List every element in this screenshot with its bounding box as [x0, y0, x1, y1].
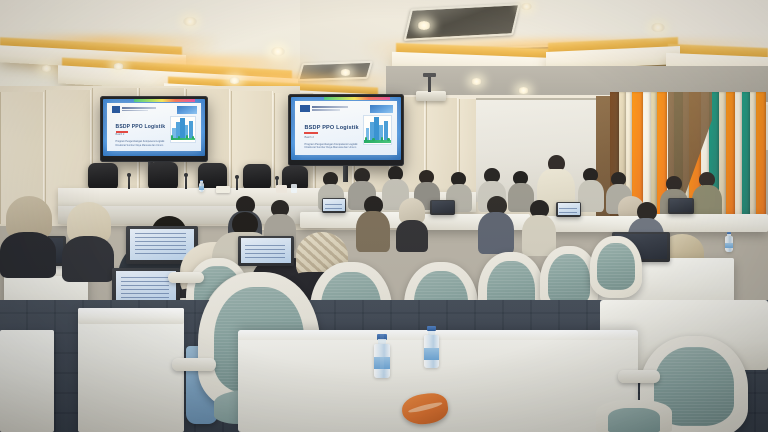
slide-color-bar [134, 99, 195, 102]
torso [478, 212, 514, 254]
chair-armrest [168, 272, 204, 283]
torso [0, 232, 56, 278]
laptop-lid [668, 198, 694, 214]
chair-armrest [172, 358, 216, 371]
wall-slat [735, 92, 742, 224]
tree-icon [387, 138, 389, 141]
wall-slat [742, 92, 750, 224]
tv-right[interactable]: BSDP PPO Logistik Batch 2 Program Pengem… [288, 94, 404, 166]
slide-decoration [370, 105, 392, 114]
logo-text-line1-bar [312, 106, 348, 108]
bottle-label [424, 348, 439, 359]
torso [396, 220, 428, 252]
downlight-icon [229, 77, 240, 84]
screen-content [121, 275, 169, 297]
person-seated [478, 196, 514, 254]
bottle-shadow [380, 330, 384, 370]
laptop-lid [322, 198, 346, 213]
slide-title: BSDP PPO Logistik [116, 124, 166, 130]
projector-ceiling-plate [423, 73, 436, 77]
slide-footer-2: Direktorat Sumber Daya Manusia dan Umum [304, 146, 356, 149]
downlight-icon [183, 17, 197, 26]
person-seated [578, 168, 604, 212]
logo-text-line2-bar [122, 110, 148, 112]
water-bottle [424, 326, 439, 368]
desk-partition [0, 330, 54, 432]
torso [578, 180, 604, 212]
student-desk [650, 214, 768, 232]
laptop-screen [116, 271, 176, 304]
chair-mesh-panel [548, 254, 591, 307]
slide-left: BSDP PPO Logistik Batch 2 Program Pengem… [107, 103, 201, 151]
microphone-icon [236, 178, 238, 190]
tree-icon [365, 137, 367, 141]
laptop-screen [323, 199, 344, 211]
glass [291, 184, 297, 193]
slide-city-illustration [363, 115, 391, 145]
training-room-photo: BSDP PPO Logistik Batch 2 Program Pengem… [0, 0, 768, 432]
wall-slat [756, 92, 766, 224]
bottle-body [725, 236, 733, 252]
projector-mount [428, 76, 431, 92]
tv-left-display: BSDP PPO Logistik Batch 2 Program Pengem… [103, 99, 205, 156]
downlight-icon [271, 47, 285, 56]
downlight-icon [340, 69, 351, 76]
screen-content [559, 205, 577, 213]
microphone-icon [185, 176, 187, 189]
chair-mesh-panel [608, 408, 660, 432]
person-seated-hijab [0, 196, 58, 278]
laptop[interactable] [430, 200, 455, 215]
paper-stack [276, 185, 287, 193]
student-desk-front [78, 308, 184, 432]
tv-right-display: BSDP PPO Logistik Batch 2 Program Pengem… [291, 97, 401, 160]
bottle-label [199, 186, 204, 189]
slide-subtitle: Batch 2 [116, 133, 125, 136]
building [374, 117, 379, 140]
tv-left[interactable]: BSDP PPO Logistik Batch 2 Program Pengem… [100, 96, 208, 162]
executive-chair[interactable] [88, 163, 118, 189]
downlight-icon [417, 21, 431, 30]
laptop[interactable] [322, 198, 346, 213]
downlight-icon [113, 63, 124, 70]
water-bottle [725, 232, 733, 252]
slide-decoration [177, 106, 198, 114]
building [180, 118, 184, 138]
screen-content [245, 242, 284, 259]
slide-subtitle: Batch 2 [304, 135, 314, 139]
torso [62, 236, 114, 282]
person-seated [356, 196, 390, 252]
downlight-icon [521, 3, 532, 10]
laptop-lid [430, 200, 455, 215]
slide-color-bar [324, 97, 390, 100]
slide-title: BSDP PPO Logistik [304, 125, 358, 131]
person-seated-hijab [62, 202, 116, 282]
downlight-icon [471, 78, 482, 85]
task-chair[interactable] [590, 236, 642, 298]
torso [356, 211, 390, 252]
chair-mesh-panel [597, 243, 635, 290]
paper-stack [216, 186, 230, 193]
projector-icon [416, 91, 446, 101]
chair-armrest [618, 370, 660, 383]
tree-icon [372, 138, 374, 141]
slide-right: BSDP PPO Logistik Batch 2 Program Pengem… [295, 101, 396, 155]
laptop[interactable] [668, 198, 694, 214]
person-seated-hijab [396, 198, 428, 252]
bottle-label [725, 243, 733, 248]
slide-footer-2: Direktorat Sumber Daya Manusia dan Umum [116, 144, 164, 147]
desk-top [78, 308, 184, 324]
logo-text-line1-bar [122, 107, 156, 109]
water-bottle [199, 180, 204, 192]
laptop-lid [556, 202, 581, 217]
laptop-screen [432, 201, 454, 213]
executive-chair[interactable] [243, 164, 271, 189]
microphone-icon [128, 176, 130, 189]
bottle-body [199, 183, 204, 192]
screen-content [325, 201, 342, 209]
downlight-icon [518, 87, 529, 94]
logo-text-line2-bar [312, 109, 340, 111]
wall-slat [726, 92, 735, 224]
ministry-logo-icon [112, 106, 120, 112]
laptop-screen [670, 199, 693, 212]
laptop[interactable] [556, 202, 581, 217]
laptop-screen [558, 203, 580, 215]
slide-city-illustration [170, 116, 196, 143]
person-seated [692, 172, 722, 220]
bottle-body [424, 335, 439, 368]
ministry-logo-icon [300, 105, 309, 112]
executive-chair[interactable] [148, 162, 178, 189]
downlight-icon [41, 65, 52, 72]
downlight-icon [651, 23, 665, 32]
